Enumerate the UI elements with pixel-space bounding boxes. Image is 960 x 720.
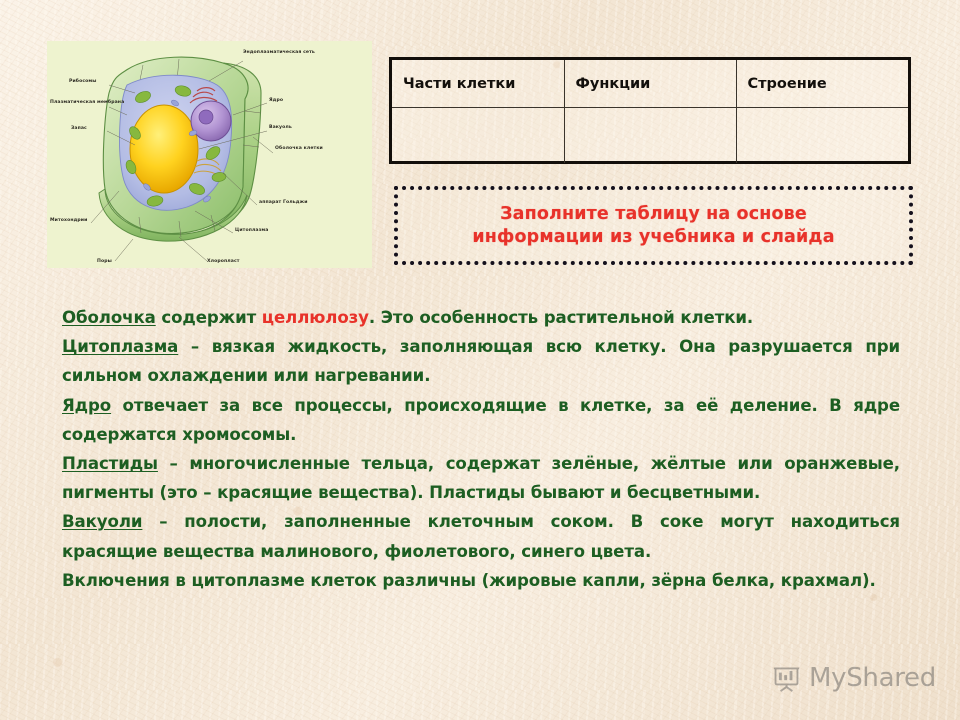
cell-parts-table: Части клетки Функции Строение bbox=[392, 60, 908, 163]
lesson-body-text: Оболочка содержит целлюлозу. Это особенн… bbox=[62, 303, 900, 595]
table-header-cell-functions: Функции bbox=[564, 60, 736, 108]
diagram-label-plasma-membrane: Плазматическая мембрана bbox=[50, 98, 124, 105]
myshared-watermark: MyShared bbox=[773, 657, 933, 699]
highlight-cellulose: целлюлозу bbox=[262, 308, 369, 327]
diagram-label-pore: Поры bbox=[97, 258, 112, 264]
table-header: Части клетки Функции Строение bbox=[392, 60, 908, 108]
vklyucheniya-text: Включения в цитоплазме клеток различны (… bbox=[62, 571, 876, 590]
task-instruction-text: Заполните таблицу на основе информации и… bbox=[472, 203, 834, 248]
obolochka-text-before: содержит bbox=[156, 308, 262, 327]
table-cell-functions-empty[interactable] bbox=[564, 108, 736, 164]
nucleolus-shape bbox=[199, 110, 213, 124]
diagram-label-vacuole: Вакуоль bbox=[269, 124, 292, 130]
term-plastidy: Пластиды bbox=[62, 454, 158, 473]
paragraph-vakuoli: Вакуоли – полости, заполненные клеточным… bbox=[62, 507, 900, 565]
vacuole-shape bbox=[130, 105, 198, 193]
worksheet-table: Части клетки Функции Строение bbox=[389, 57, 911, 164]
term-obolochka: Оболочка bbox=[62, 308, 156, 327]
task-instruction-line-1: Заполните таблицу на основе bbox=[500, 204, 807, 224]
diagram-label-cytoplasm: Цитоплазма bbox=[235, 227, 268, 233]
watermark-label: MyShared bbox=[809, 663, 936, 693]
cell-diagram-drawing: Эндоплазматическая сеть Рибосомы Плазмат… bbox=[47, 41, 372, 268]
term-citoplazma: Цитоплазма bbox=[62, 337, 178, 356]
diagram-label-nucleus: Ядро bbox=[269, 97, 283, 103]
plant-cell-diagram: Эндоплазматическая сеть Рибосомы Плазмат… bbox=[47, 41, 372, 268]
table-cell-structure-empty[interactable] bbox=[736, 108, 908, 164]
table-row bbox=[392, 108, 908, 164]
table-body bbox=[392, 108, 908, 164]
diagram-label-endoplasmic-reticulum: Эндоплазматическая сеть bbox=[243, 49, 315, 55]
diagram-label-chloroplast: Хлоропласт bbox=[207, 258, 240, 264]
vakuoli-text: – полости, заполненные клеточным соком. … bbox=[62, 512, 900, 560]
diagram-label-ribosomes: Рибосомы bbox=[69, 77, 97, 84]
diagram-label-cell-wall: Оболочка клетки bbox=[275, 144, 323, 151]
diagram-label-mitochondria: Митохондрии bbox=[50, 217, 87, 223]
paragraph-vklyucheniya: Включения в цитоплазме клеток различны (… bbox=[62, 566, 900, 595]
table-cell-parts-empty[interactable] bbox=[392, 108, 564, 164]
paragraph-yadro: Ядро отвечает за все процессы, происходя… bbox=[62, 391, 900, 449]
paragraph-obolochka: Оболочка содержит целлюлозу. Это особенн… bbox=[62, 303, 900, 332]
table-header-cell-structure: Строение bbox=[736, 60, 908, 108]
table-header-cell-parts: Части клетки bbox=[392, 60, 564, 108]
plastidy-text: – многочисленные тельца, содержат зелёны… bbox=[62, 454, 900, 502]
paragraph-plastidy: Пластиды – многочисленные тельца, содерж… bbox=[62, 449, 900, 507]
term-vakuoli: Вакуоли bbox=[62, 512, 142, 531]
presentation-board-icon bbox=[773, 665, 800, 692]
task-instruction-callout: Заполните таблицу на основе информации и… bbox=[394, 186, 913, 265]
diagram-label-starch: Запас bbox=[71, 125, 87, 131]
obolochka-text-after: . Это особенность растительной клетки. bbox=[369, 308, 753, 327]
table-header-row: Части клетки Функции Строение bbox=[392, 60, 908, 108]
diagram-label-golgi-apparatus: аппарат Гольджи bbox=[259, 199, 308, 205]
paragraph-citoplazma: Цитоплазма – вязкая жидкость, заполняюща… bbox=[62, 332, 900, 390]
term-yadro: Ядро bbox=[62, 396, 111, 415]
yadro-text: отвечает за все процессы, происходящие в… bbox=[62, 396, 900, 444]
citoplazma-text: – вязкая жидкость, заполняющая всю клетк… bbox=[62, 337, 900, 385]
task-instruction-line-2: информации из учебника и слайда bbox=[472, 227, 834, 247]
